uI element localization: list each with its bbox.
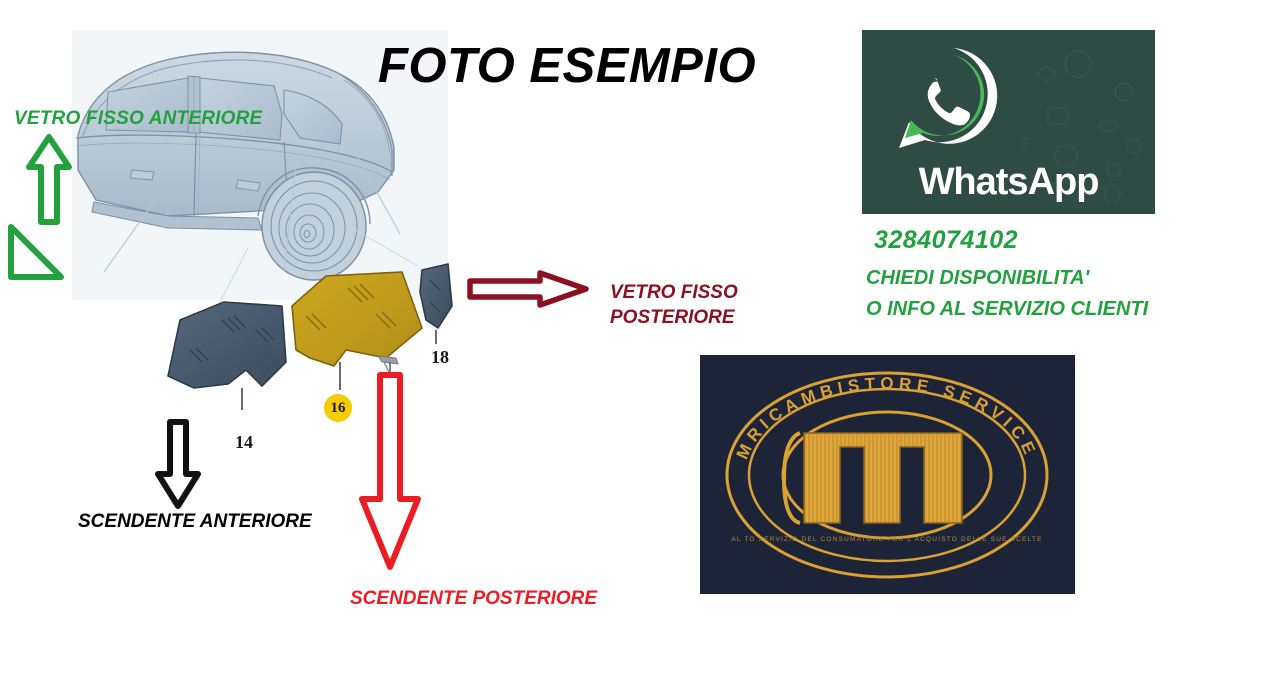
label-scendente-anteriore: SCENDENTE ANTERIORE xyxy=(78,511,312,533)
whatsapp-wordmark: WhatsApp xyxy=(862,161,1155,204)
green-triangle-icon xyxy=(6,222,64,282)
darkred-right-arrow-icon xyxy=(466,270,590,308)
poster-canvas: 14 16 17 18 FOTO ESEMPIO VETRO FISSO ANT… xyxy=(0,0,1264,678)
contact-line-2: O INFO AL SERVIZIO CLIENTI xyxy=(866,298,1148,321)
shop-logo: MRICAMBISTORE SERVICE DI RUSSO MARCO AL … xyxy=(700,355,1075,594)
label-vetro-fisso-posteriore-line1: VETRO FISSO xyxy=(610,280,738,305)
whatsapp-icon xyxy=(899,48,997,148)
shop-logo-monogram xyxy=(784,433,962,523)
label-scendente-posteriore: SCENDENTE POSTERIORE xyxy=(350,588,597,610)
part-15-shape xyxy=(292,272,422,366)
green-up-arrow-icon xyxy=(26,134,72,226)
contact-line-1: CHIEDI DISPONIBILITA' xyxy=(866,267,1089,290)
label-vetro-fisso-posteriore: VETRO FISSO POSTERIORE xyxy=(610,280,738,330)
black-down-arrow-icon xyxy=(154,418,202,510)
part-number-18: 18 xyxy=(431,347,449,368)
label-vetro-fisso-posteriore-line2: POSTERIORE xyxy=(610,305,738,330)
phone-number[interactable]: 3284074102 xyxy=(874,226,1018,255)
part-18-shape xyxy=(420,264,452,328)
part-number-14: 14 xyxy=(235,432,253,453)
red-down-arrow-icon xyxy=(358,371,422,571)
shop-logo-motto: AL TO SERVIZIO DEL CONSUMATORE PER L'ACQ… xyxy=(731,536,1042,543)
page-title: FOTO ESEMPIO xyxy=(378,38,756,94)
whatsapp-banner[interactable]: WhatsApp xyxy=(862,30,1155,214)
label-vetro-fisso-anteriore: VETRO FISSO ANTERIORE xyxy=(14,108,262,130)
part-number-16-badge: 16 xyxy=(324,394,352,422)
part-14-shape xyxy=(168,302,286,388)
